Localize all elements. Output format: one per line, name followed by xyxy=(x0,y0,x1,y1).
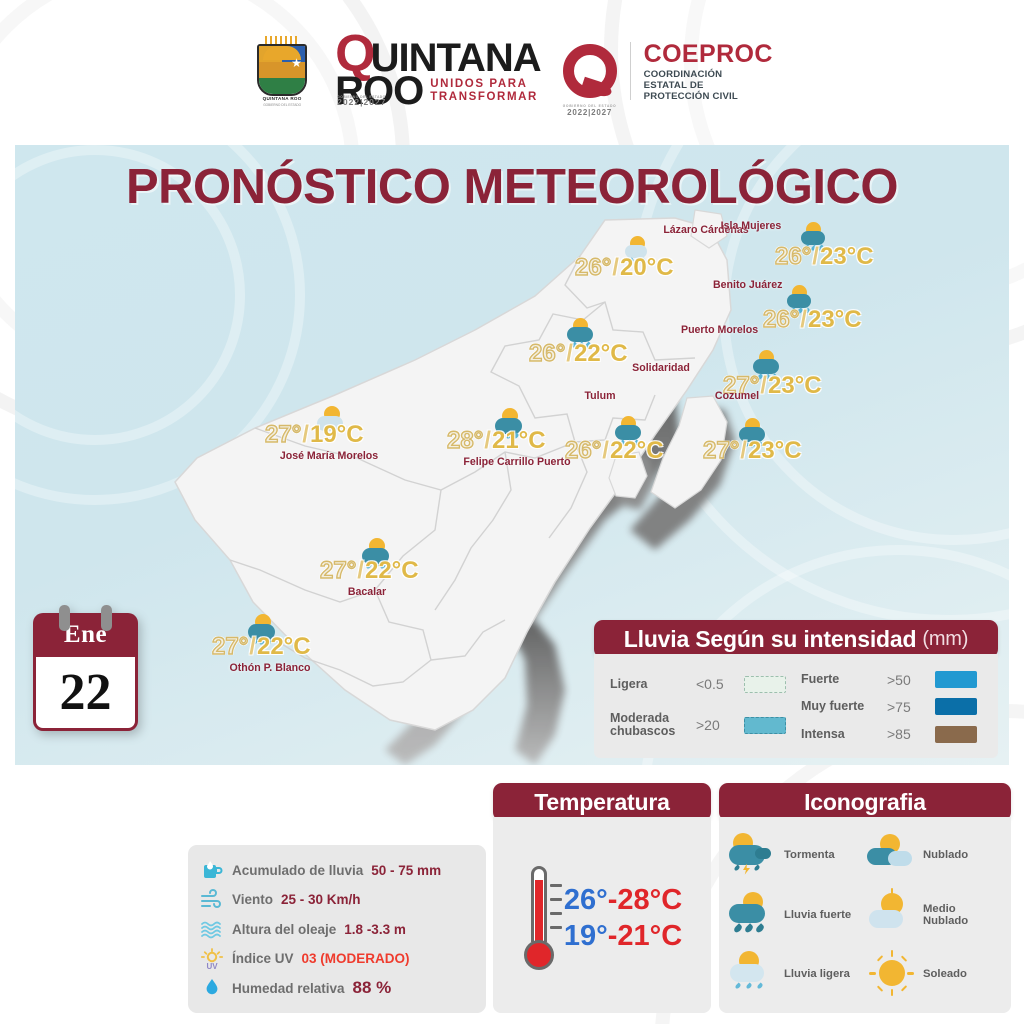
rain-level-swatch xyxy=(935,698,977,715)
quintana-roo-coat-of-arms: ★ QUINTANA ROO GOBIERNO DEL ESTADO xyxy=(251,34,313,108)
condition-label: Altura del oleaje xyxy=(232,922,336,937)
temp-separator: / xyxy=(740,437,747,464)
logo-divider xyxy=(630,42,631,100)
city-name: Bacalar xyxy=(348,586,386,598)
soleado-icon xyxy=(866,950,918,998)
condition-value: 50 - 75 mm xyxy=(371,863,441,878)
city-name: Cozumel xyxy=(715,390,759,402)
iconography-title: Iconografia xyxy=(804,789,926,816)
temp-separator: / xyxy=(812,243,819,270)
lluvia-ligera-icon xyxy=(727,950,779,998)
rain-level-swatch xyxy=(744,717,786,734)
slogan-line-1: UNIDOS PARA xyxy=(430,78,538,92)
temp-high: 26° xyxy=(775,243,811,270)
rain-legend-body: Ligera <0.5 Moderada chubascos >20 Fuert… xyxy=(594,654,998,758)
coeproc-years: GOBIERNO DEL ESTADO 2022|2027 xyxy=(557,104,623,117)
temp-low: 19°C xyxy=(310,421,364,448)
condition-label: Humedad relativa xyxy=(232,981,345,996)
calendar-month-bar: Ene xyxy=(33,613,138,657)
rain-legend-header: Lluvia Según su intensidad (mm) xyxy=(594,620,998,658)
rain-level-value: >75 xyxy=(887,699,927,715)
legend-item-label: Tormenta xyxy=(784,849,835,861)
rain-legend-row: Fuerte >50 xyxy=(801,671,982,688)
temp-separator: / xyxy=(566,340,573,367)
condition-value: 88 % xyxy=(353,978,392,998)
temp-high: 27° xyxy=(212,633,248,660)
temp-low: 23°C xyxy=(748,437,802,464)
rain-level-swatch xyxy=(935,726,977,743)
temp-low: 23°C xyxy=(768,372,822,399)
rain-level-value: <0.5 xyxy=(696,676,736,692)
quintana-roo-wordmark: QUINTANA ROO UNIDOS PARA TRANSFORMAR GOB… xyxy=(335,34,540,107)
temp-low: 22°C xyxy=(610,437,664,464)
city-name: Benito Juárez xyxy=(713,279,782,291)
rain-level-name: Fuerte xyxy=(801,673,879,686)
rain-level-value: >50 xyxy=(887,672,927,688)
city-name: Felipe Carrillo Puerto xyxy=(463,456,570,468)
temp-low: 23°C xyxy=(808,306,862,333)
temp-separator: / xyxy=(357,557,364,584)
temp-min-sep: - xyxy=(608,920,618,952)
coeproc-sub-3: PROTECCIÓN CIVIL xyxy=(644,91,773,102)
rain-level-name: Intensa xyxy=(801,728,879,741)
legend-item-soleado: Soleado xyxy=(866,946,1003,1003)
temp-separator: / xyxy=(249,633,256,660)
city-name: Isla Mujeres xyxy=(721,220,782,232)
legend-item-label: Lluvia fuerte xyxy=(784,909,851,921)
temp-separator: / xyxy=(484,427,491,454)
legend-item-label: Lluvia ligera xyxy=(784,968,850,980)
condition-row-wind: Viento 25 - 30 Km/h xyxy=(200,889,474,911)
calendar-day-box: 22 xyxy=(33,657,138,731)
coeproc-years-value: 2022|2027 xyxy=(567,108,612,117)
legend-item-nublado: Nublado xyxy=(866,827,1003,884)
condition-value: 03 (MODERADO) xyxy=(302,951,410,966)
legend-item-lluvia-fuerte: Lluvia fuerte xyxy=(727,886,864,943)
temperature-max-range: 26°-28°C xyxy=(564,884,682,916)
rain-legend-row: Moderada chubascos >20 xyxy=(610,712,791,738)
temp-high: 27° xyxy=(703,437,739,464)
condition-label: Viento xyxy=(232,892,273,907)
rain-legend-title: Lluvia Según su intensidad xyxy=(624,626,917,653)
rain-level-value: >20 xyxy=(696,717,736,733)
condition-row-rain-accumulated: Acumulado de lluvia 50 - 75 mm xyxy=(200,859,474,881)
temp-high: 26° xyxy=(575,254,611,281)
temperature-header: Temperatura xyxy=(493,783,711,821)
calendar-day: 22 xyxy=(60,667,112,719)
coeproc-title: COEPROC xyxy=(644,40,773,69)
temperature-body: 26°-28°C 19°-21°C xyxy=(493,817,711,1013)
conditions-panel: Acumulado de lluvia 50 - 75 mm Viento 25… xyxy=(188,845,486,1013)
legend-item-lluvia-ligera: Lluvia ligera xyxy=(727,946,864,1003)
rain-legend-unit: (mm) xyxy=(922,628,968,651)
temp-separator: / xyxy=(602,437,609,464)
date-badge: Ene 22 xyxy=(33,613,138,731)
temp-low: 22°C xyxy=(365,557,419,584)
temp-low: 22°C xyxy=(257,633,311,660)
shield-label: QUINTANA ROO xyxy=(251,96,313,101)
rain-level-value: >85 xyxy=(887,726,927,742)
temp-max-low: 26° xyxy=(564,884,608,916)
calendar-ring xyxy=(101,605,112,631)
thermometer-icon xyxy=(522,866,556,970)
condition-row-uv-index: UV Índice UV 03 (MODERADO) xyxy=(200,948,474,970)
coeproc-sub-2: ESTATAL DE xyxy=(644,80,773,91)
temperature-min-range: 19°-21°C xyxy=(564,920,682,952)
temp-low: 22°C xyxy=(574,340,628,367)
humidity-icon xyxy=(200,977,224,999)
temperature-panel: Temperatura 26°-28°C 19°-21°C xyxy=(493,783,711,1015)
rain-level-swatch xyxy=(744,676,786,693)
temp-high: 28° xyxy=(447,427,483,454)
legend-item-medio-nublado: Medio Nublado xyxy=(866,886,1003,943)
tormenta-icon xyxy=(727,832,779,880)
condition-row-humidity: Humedad relativa 88 % xyxy=(200,977,474,999)
city-name: José María Morelos xyxy=(280,450,378,462)
slogan-line-2: TRANSFORMAR xyxy=(430,91,538,105)
temp-min-high: 21°C xyxy=(617,920,682,952)
brand-years-value: 2022|2027 xyxy=(337,97,386,107)
shield-sublabel: GOBIERNO DEL ESTADO xyxy=(251,103,313,107)
temp-high: 27° xyxy=(320,557,356,584)
legend-item-tormenta: Tormenta xyxy=(727,827,864,884)
waves-icon xyxy=(200,918,224,940)
city-name: Tulum xyxy=(585,390,616,402)
temp-max-sep: - xyxy=(608,884,618,916)
legend-item-label: Medio Nublado xyxy=(923,903,1003,928)
condition-label: Acumulado de lluvia xyxy=(232,863,363,878)
temperature-title: Temperatura xyxy=(534,789,669,816)
condition-row-wave-height: Altura del oleaje 1.8 -3.3 m xyxy=(200,918,474,940)
rain-legend-row: Ligera <0.5 xyxy=(610,676,791,693)
condition-label: Índice UV xyxy=(232,951,294,966)
iconography-body: Tormenta Nublado Lluvia fuerte xyxy=(719,817,1011,1013)
nublado-icon xyxy=(866,832,918,880)
uv-icon: UV xyxy=(200,948,224,970)
coeproc-logo: GOBIERNO DEL ESTADO 2022|2027 COEPROC CO… xyxy=(563,40,773,102)
iconography-panel: Iconografia Tormenta Nublado xyxy=(719,783,1011,1015)
lluvia-fuerte-icon xyxy=(727,891,779,939)
page-title: PRONÓSTICO METEOROLÓGICO xyxy=(15,159,1009,215)
legend-item-label: Nublado xyxy=(923,849,968,861)
temp-separator: / xyxy=(612,254,619,281)
temp-high: 26° xyxy=(763,306,799,333)
temp-max-high: 28°C xyxy=(617,884,682,916)
rain-legend-column-right: Fuerte >50 Muy fuerte >75 Intensa >85 xyxy=(801,666,982,748)
coeproc-q-icon xyxy=(563,44,617,98)
rain-legend-row: Intensa >85 xyxy=(801,726,982,743)
iconography-header: Iconografia xyxy=(719,783,1011,821)
rain-level-swatch xyxy=(935,671,977,688)
rain-legend-row: Muy fuerte >75 xyxy=(801,698,982,715)
city-name: Puerto Morelos xyxy=(681,324,758,336)
header-logos: ★ QUINTANA ROO GOBIERNO DEL ESTADO QUINT… xyxy=(0,0,1024,142)
temp-low: 21°C xyxy=(492,427,546,454)
temp-min-low: 19° xyxy=(564,920,608,952)
rain-level-name: Moderada chubascos xyxy=(610,712,688,738)
city-name: Solidaridad xyxy=(632,362,690,374)
rain-intensity-legend: Lluvia Según su intensidad (mm) Ligera <… xyxy=(594,620,998,758)
star-icon: ★ xyxy=(291,56,302,70)
rain-gauge-icon xyxy=(200,859,224,881)
svg-text:UV: UV xyxy=(206,962,218,970)
coeproc-sub-1: COORDINACIÓN xyxy=(644,69,773,80)
medio-nublado-icon xyxy=(866,891,918,939)
rain-level-name: Muy fuerte xyxy=(801,700,879,713)
condition-value: 25 - 30 Km/h xyxy=(281,892,361,907)
brand-years: GOBIERNO DEL ESTADO 2022|2027 xyxy=(337,96,386,106)
rain-level-name: Ligera xyxy=(610,678,688,691)
wind-icon xyxy=(200,889,224,911)
rain-legend-column-left: Ligera <0.5 Moderada chubascos >20 xyxy=(610,666,791,748)
temp-low: 20°C xyxy=(620,254,674,281)
temp-separator: / xyxy=(302,421,309,448)
temp-low: 23°C xyxy=(820,243,874,270)
temp-high: 26° xyxy=(529,340,565,367)
condition-value: 1.8 -3.3 m xyxy=(344,922,406,937)
legend-item-label: Soleado xyxy=(923,968,967,980)
calendar-ring xyxy=(59,605,70,631)
temp-separator: / xyxy=(800,306,807,333)
city-name: Othón P. Blanco xyxy=(229,662,310,674)
temp-high: 27° xyxy=(265,421,301,448)
